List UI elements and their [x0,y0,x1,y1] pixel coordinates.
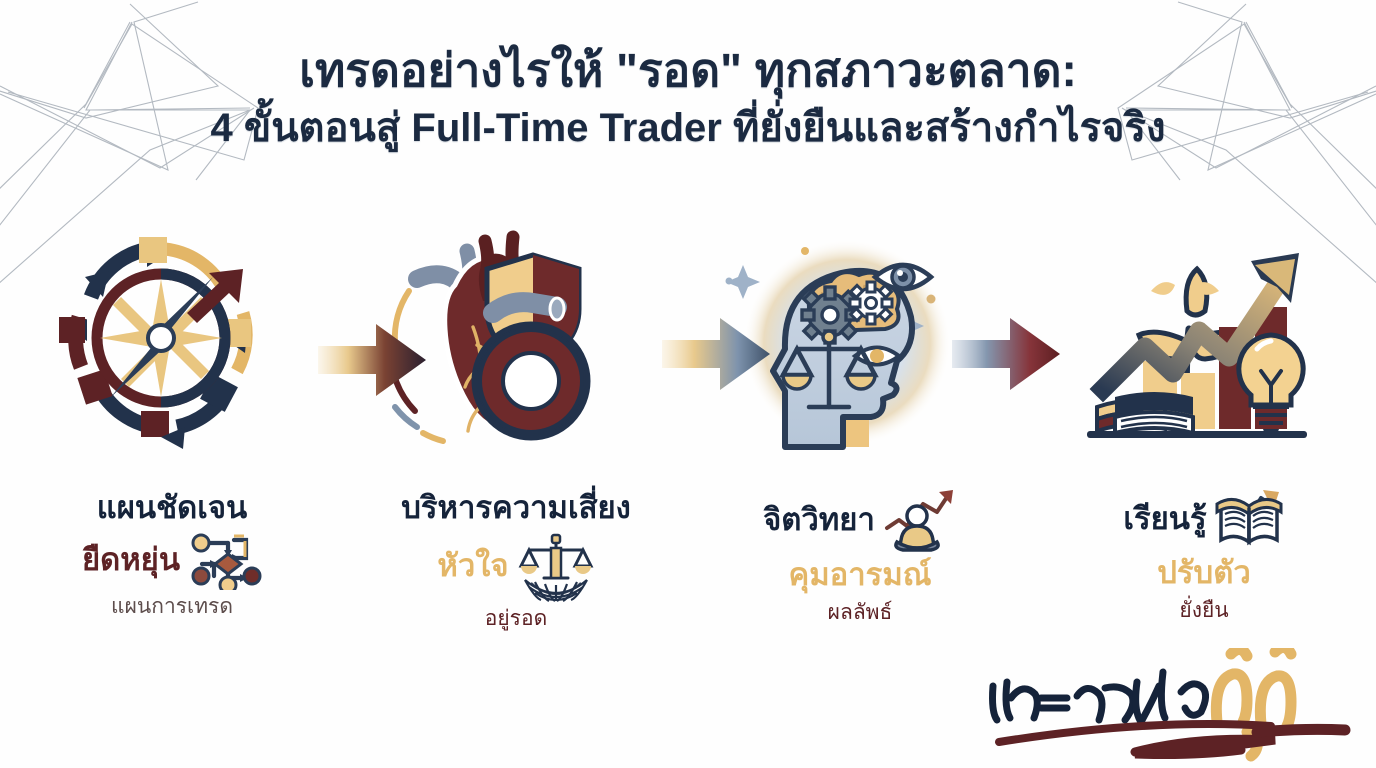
step-1-keyword: ยืดหยุ่น [82,539,180,581]
steps-row: แผนชัดเจน ยืดหยุ่น [0,212,1376,652]
step-1: แผนชัดเจน ยืดหยุ่น [0,212,344,652]
step-4-headline: เรียนรู้ [1123,499,1206,539]
scales-safety-net-icon [517,530,595,602]
step-4: เรียนรู้ ปรับต [1032,212,1376,652]
step-1-headline: แผนชัดเจน [0,488,344,528]
arrow-step1-to-step2 [318,318,428,402]
watermark-signature [985,648,1355,768]
step-1-caption: แผนการเทรด [0,592,344,621]
page-title: เทรดอย่างไรให้ "รอด" ทุกสภาวะตลาด: 4 ขั้… [0,44,1376,153]
step-4-headline-row: เรียนรู้ [1032,488,1376,550]
step-3-text: จิตวิทยา คุมอารมณ์ ผลลัพธ์ [688,488,1032,627]
step-1-text: แผนชัดเจน ยืดหยุ่น [0,488,344,622]
step-2-text: บริหารความเสี่ยง หัวใจ [344,488,688,634]
meditating-trader-icon [883,488,957,552]
step-4-keyword: ปรับตัว [1032,552,1376,594]
step-3-caption: ผลลัพธ์ [688,598,1032,627]
title-line-2: 4 ขั้นตอนสู่ Full-Time Trader ที่ยั่งยืน… [0,103,1376,153]
infographic-canvas: เทรดอย่างไรให้ "รอด" ทุกสภาวะตลาด: 4 ขั้… [0,0,1376,768]
open-book-chart-icon [1215,488,1285,550]
step-2-headline: บริหารความเสี่ยง [344,488,688,528]
arrow-step3-to-step4 [952,312,1062,396]
compass-cycle-icon [0,212,344,480]
step-2: บริหารความเสี่ยง หัวใจ [344,212,688,652]
books-growth-bulb-icon [1032,212,1376,480]
flowchart-icon [188,530,262,590]
step-2-keyword: หัวใจ [437,545,508,587]
arrow-step2-to-step3 [662,312,772,396]
step-3: จิตวิทยา คุมอารมณ์ ผลลัพธ์ [688,212,1032,652]
step-2-caption: อยู่รอด [344,604,688,633]
step-4-caption: ยั่งยืน [1032,596,1376,625]
step-3-headline-row: จิตวิทยา [688,488,1032,552]
title-line-1: เทรดอย่างไรให้ "รอด" ทุกสภาวะตลาด: [0,44,1376,97]
step-4-text: เรียนรู้ ปรับต [1032,488,1376,625]
step-1-keyword-row: ยืดหยุ่น [0,530,344,590]
step-2-keyword-row: หัวใจ [344,530,688,602]
step-3-keyword: คุมอารมณ์ [688,554,1032,596]
step-3-headline: จิตวิทยา [763,500,875,540]
